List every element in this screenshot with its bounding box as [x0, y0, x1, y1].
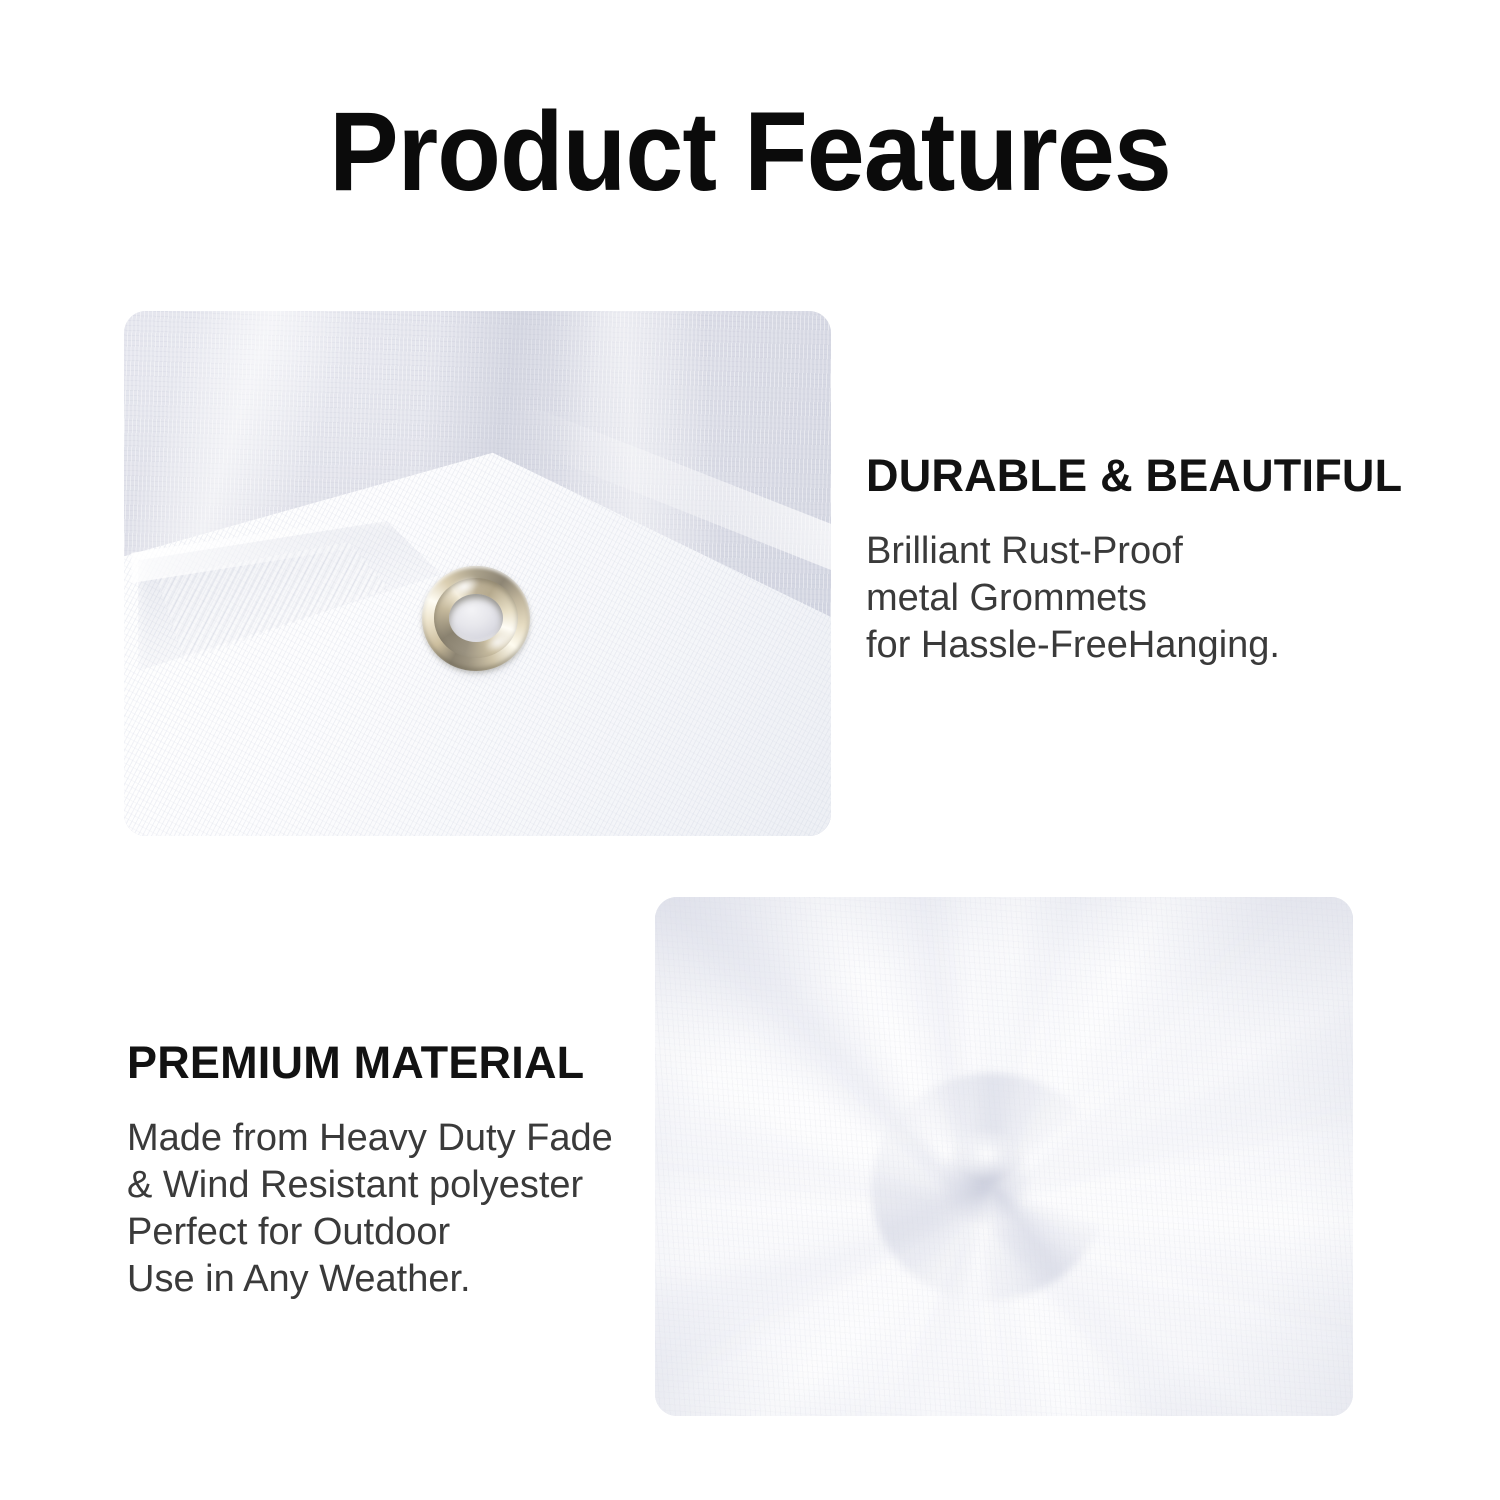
- product-features-infographic: Product Features DURABLE & BEAUTIFUL Bri…: [0, 0, 1500, 1500]
- metal-grommet: [422, 566, 529, 671]
- page-title: Product Features: [53, 96, 1448, 208]
- feature-heading-durable-beautiful: DURABLE & BEAUTIFUL: [866, 452, 1402, 500]
- feature-body-durable-beautiful: Brilliant Rust-Proof metal Grommets for …: [866, 528, 1280, 669]
- grommet-fabric-photo: [124, 311, 831, 836]
- feature-body-premium-material: Made from Heavy Duty Fade & Wind Resista…: [127, 1115, 613, 1303]
- feature-heading-premium-material: PREMIUM MATERIAL: [127, 1039, 584, 1087]
- polyester-vignette: [655, 897, 1353, 1416]
- swirled-polyester-photo: [655, 897, 1353, 1416]
